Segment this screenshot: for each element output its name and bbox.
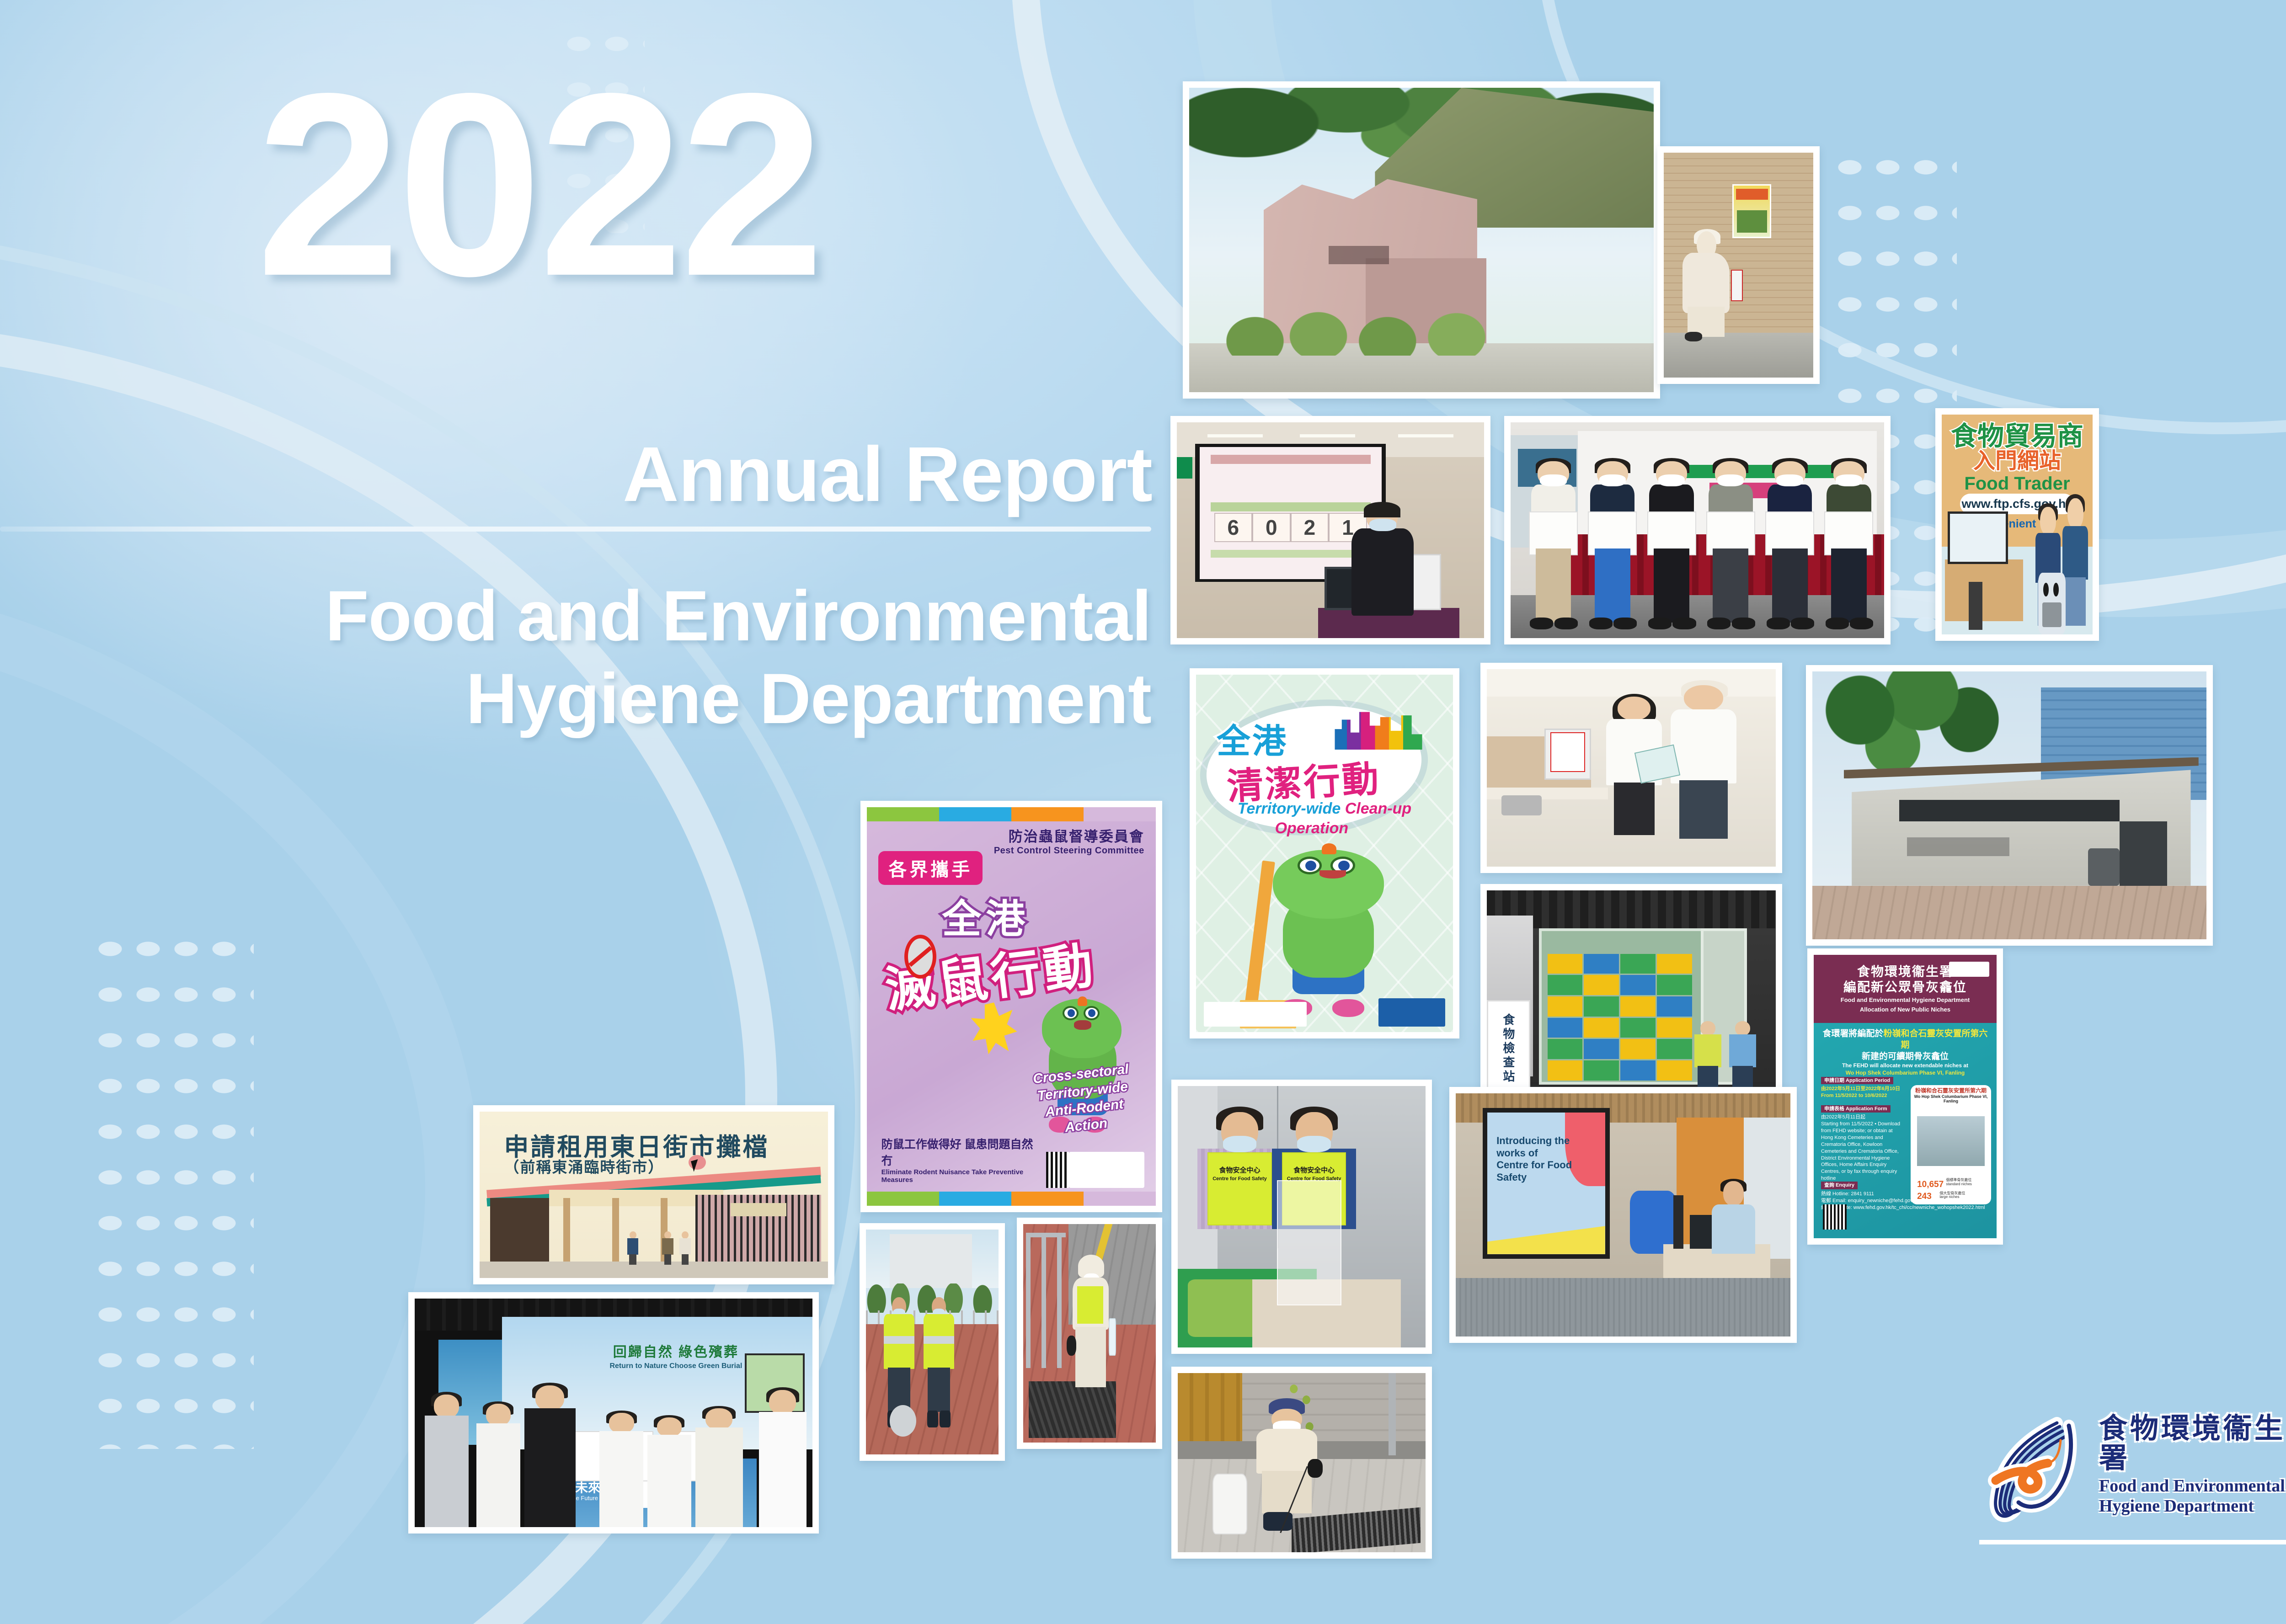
draw-digit: 6 [1214, 513, 1253, 542]
photo-columbarium-building [1183, 81, 1660, 399]
niche-application-form-cn: 由2022年5月11日起 [1821, 1114, 1905, 1121]
photo-poster-pasting-worker [1657, 146, 1820, 384]
ftp-title-cn-line2: 入門網站 [1948, 450, 2087, 473]
niche-card-title-cn: 粉嶺和合石靈灰安置所第六期 [1913, 1088, 1988, 1094]
qr-code-icon [1046, 1152, 1069, 1187]
niche-large-label-cn: 個大型骨灰龕位 [1939, 1191, 1965, 1195]
pcsc-name-en: Pest Control Steering Committee [994, 846, 1144, 856]
niche-section3-label: 查詢 Enquiry [1821, 1182, 1858, 1189]
niche-lead-cn-b: 新建的可續期骨灰龕位 [1819, 1051, 1991, 1063]
cleanliness-mascot [1268, 846, 1391, 1011]
photo-niche-draw-of-lots: 6 0 2 1 [1170, 416, 1490, 644]
anti-rodent-footer: 防鼠工作做得好 鼠患問題自然冇 Eliminate Rodent Nuisanc… [881, 1135, 1043, 1184]
cleanup-headline-en-top: Territory-wide Clean-up [1212, 800, 1438, 818]
fehd-logo-name-cn: 食物環境衞生署 [2099, 1414, 2286, 1473]
draw-digit: 0 [1252, 513, 1291, 542]
fehd-logo: 食物環境衞生署 Food and Environmental Hygiene D… [1979, 1409, 2286, 1542]
cfs-slide-title-line1: Introducing the works of [1496, 1135, 1570, 1158]
niche-section2-label: 申請表格 Application Form [1821, 1105, 1891, 1113]
photo-food-inspection-station: 食物檢查站 [1480, 884, 1782, 1108]
niche-header-cn-line2: 編配新公眾骨灰龕位 [1843, 980, 1967, 995]
niche-application-period-cn: 由2022年5月11日至2022年6月10日 [1821, 1086, 1905, 1092]
fehd-logo-small [1204, 1002, 1307, 1027]
draw-of-lots-digits: 6 0 2 1 [1214, 513, 1367, 542]
poster-new-public-niches: 食物環境衞生署 編配新公眾骨灰龕位 Food and Environmental… [1807, 948, 2003, 1245]
photo-gully-larviciding [1171, 1367, 1432, 1559]
poster-sunlight-market-stall: 申請租用東日街市攤檔 （前稱東涌臨時街市） [473, 1105, 834, 1284]
fehd-logo-mark-icon [1979, 1413, 2094, 1527]
photo-leaflet-handout [1480, 663, 1782, 873]
fehd-logo-name-en-line2: Hygiene Department [2099, 1496, 2286, 1516]
photo-pressure-washing [860, 1223, 1005, 1461]
cleanup-en-line1: Territory-wide [1238, 800, 1341, 817]
cleanup-headline-en-bottom: Operation [1212, 820, 1412, 837]
niche-card-title-en: Wo Hop Shek Columbarium Phase VI, Fanlin… [1913, 1094, 1988, 1104]
fehd-logo-small [1069, 1152, 1144, 1187]
pcsc-name-cn: 防治蟲鼠督導委員會 [994, 825, 1144, 846]
photo-pak-shek-kok-public-toilet [1806, 665, 2213, 946]
fehd-logo-small [1949, 962, 1989, 977]
cfs-vest-label-cn: 食物安全中心 [1293, 1166, 1335, 1174]
niche-standard-label-cn: 個標準骨灰龕位 [1946, 1178, 1971, 1182]
no-rodent-icon [904, 935, 936, 979]
fehd-logo-name-en-line1: Food and Environmental [2099, 1476, 2286, 1496]
anti-rodent-badge: 各界攜手 [878, 851, 983, 885]
niche-large-count: 243 [1917, 1192, 1932, 1202]
niche-application-period-en: From 11/5/2022 to 10/6/2022 [1821, 1092, 1905, 1099]
cleanup-en-line2: Clean-up [1345, 800, 1411, 817]
anti-rodent-footer-cn: 防鼠工作做得好 鼠患問題自然冇 [881, 1135, 1043, 1168]
niche-header-en-line2: Allocation of New Public Niches [1860, 1006, 1950, 1014]
poster-food-trader-portal: 食物貿易商 入門網站 Food Trader Portal www.ftp.cf… [1935, 408, 2099, 641]
niche-header-cn-line1: 食物環境衞生署 [1857, 964, 1953, 980]
photo-green-burial-exhibition: 回歸自然 綠色殯葬 Return to Nature Choose Green … [408, 1292, 819, 1533]
niche-lead-en-highlight: Wo Hop Shek Columbarium Phase VI, Fanlin… [1846, 1070, 1965, 1076]
poster-territory-wide-cleanup: 全港 清潔行動 Territory-wide Clean-up Operatio… [1190, 668, 1459, 1038]
niche-section1-label: 申請日期 Application Period [1821, 1077, 1893, 1085]
anti-rodent-headline-en: Cross-sectoral Territory-wide Anti-Roden… [1020, 1060, 1148, 1140]
ftp-title-cn-line1: 食物貿易商 [1948, 423, 2087, 450]
fehd-logo-name-en: Food and Environmental Hygiene Departmen… [2099, 1476, 2286, 1516]
photo-gully-cleansing [1017, 1218, 1162, 1449]
poster-anti-rodent-action: 防治蟲鼠督導委員會 Pest Control Steering Committe… [860, 801, 1162, 1212]
anti-rodent-footer-en: Eliminate Rodent Nuisance Take Preventiv… [881, 1168, 1043, 1184]
photo-collage: 6 0 2 1 [0, 0, 2286, 1624]
market-subtitle-cn: （前稱東涌臨時街市） [504, 1155, 664, 1177]
niche-lead-cn-a: 食環署將編配於 [1822, 1029, 1883, 1038]
cfs-vest-label-cn: 食物安全中心 [1219, 1166, 1260, 1174]
niche-application-form-en: Starting from 11/5/2022 • Download from … [1821, 1121, 1905, 1182]
food-inspection-banner-text: 食物檢查站 [1500, 1013, 1517, 1084]
photo-sodium-study-press-event [1504, 416, 1891, 644]
niche-large-label-en: large niches [1939, 1195, 1959, 1199]
niche-standard-count: 10,657 [1917, 1180, 1944, 1190]
niche-lead-en-a: The FEHD will allocate new extendable ni… [1819, 1062, 1991, 1070]
food-inspection-banner: 食物檢查站 [1487, 1000, 1530, 1102]
cfs-vest-label-en: Centre for Food Safety [1212, 1176, 1267, 1182]
photo-cfs-introduction-seminar: Introducing the works of Centre for Food… [1449, 1087, 1797, 1343]
niche-lead-cn-highlight: 粉嶺和合石靈灰安置所第六期 [1884, 1029, 1988, 1050]
fehd-logo-text: 食物環境衞生署 Food and Environmental Hygiene D… [2099, 1414, 2286, 1516]
photo-cfs-vegetable-sampling: 食物安全中心Centre for Food Safety 食物安全中心Centr… [1171, 1080, 1432, 1354]
fehd-logo-underline [1979, 1540, 2286, 1544]
qr-code-icon [1823, 1204, 1847, 1230]
draw-digit: 2 [1291, 513, 1329, 542]
niche-header-en-line1: Food and Environmental Hygiene Departmen… [1841, 996, 1970, 1004]
niche-standard-label-en: standard niches [1946, 1182, 1971, 1186]
cfs-slide-title-line2: Centre for Food Safety [1496, 1159, 1572, 1182]
keep-clean-hk-badge [1378, 998, 1445, 1027]
